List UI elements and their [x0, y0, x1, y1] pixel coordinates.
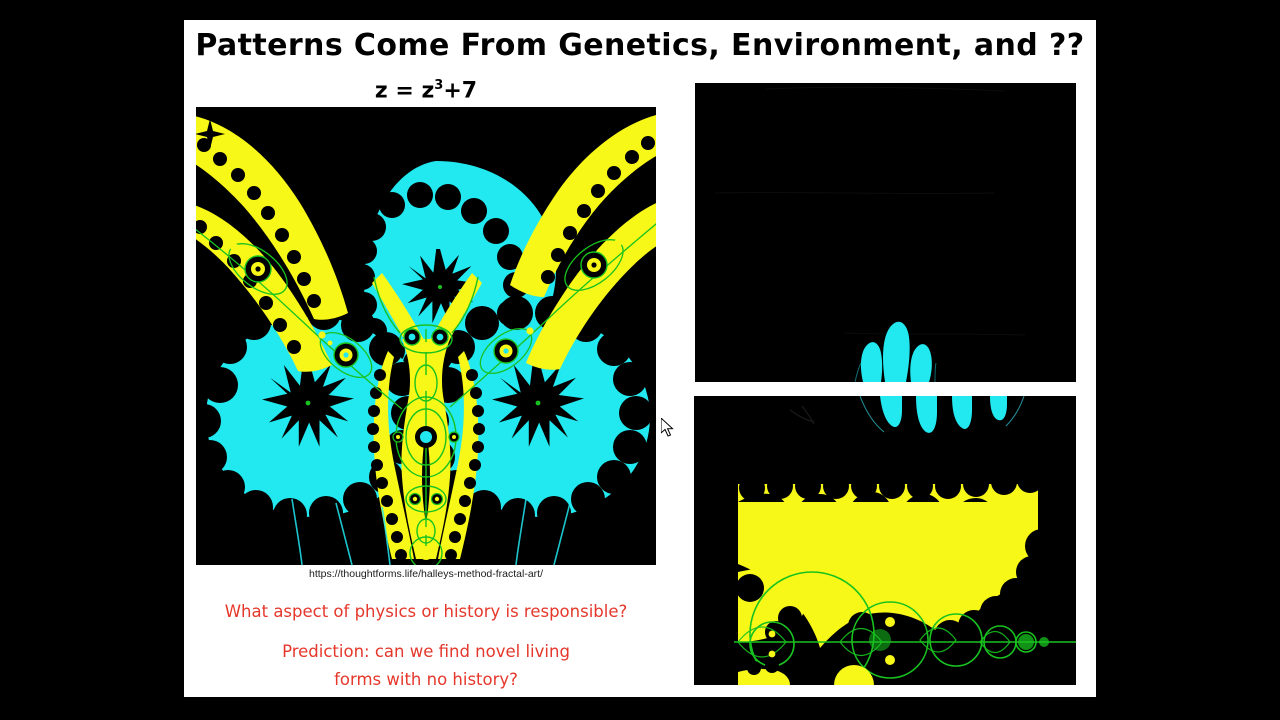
question-text: What aspect of physics or history is res… — [188, 598, 664, 626]
fractal-image-main[interactable] — [196, 107, 656, 565]
fractal-zoom2-graphic — [694, 396, 1076, 685]
fractal-image-zoom-1[interactable] — [695, 83, 1076, 382]
formula-tail: +7 — [443, 78, 477, 103]
fractal-image-zoom-2[interactable] — [694, 396, 1076, 685]
source-url-caption[interactable]: https://thoughtforms.life/halleys-method… — [196, 568, 656, 580]
screen: Patterns Come From Genetics, Environment… — [0, 0, 1280, 720]
presentation-slide: Patterns Come From Genetics, Environment… — [184, 20, 1096, 697]
fractal-main-graphic — [196, 107, 656, 565]
formula-base: z = z — [375, 78, 434, 103]
formula-label: z = z3+7 — [196, 78, 656, 103]
mouse-cursor-icon — [661, 418, 675, 438]
page-title: Patterns Come From Genetics, Environment… — [184, 28, 1096, 63]
fractal-zoom1-graphic — [695, 83, 1076, 382]
prediction-text: Prediction: can we find novel living for… — [188, 638, 664, 694]
formula-exponent: 3 — [434, 78, 443, 93]
